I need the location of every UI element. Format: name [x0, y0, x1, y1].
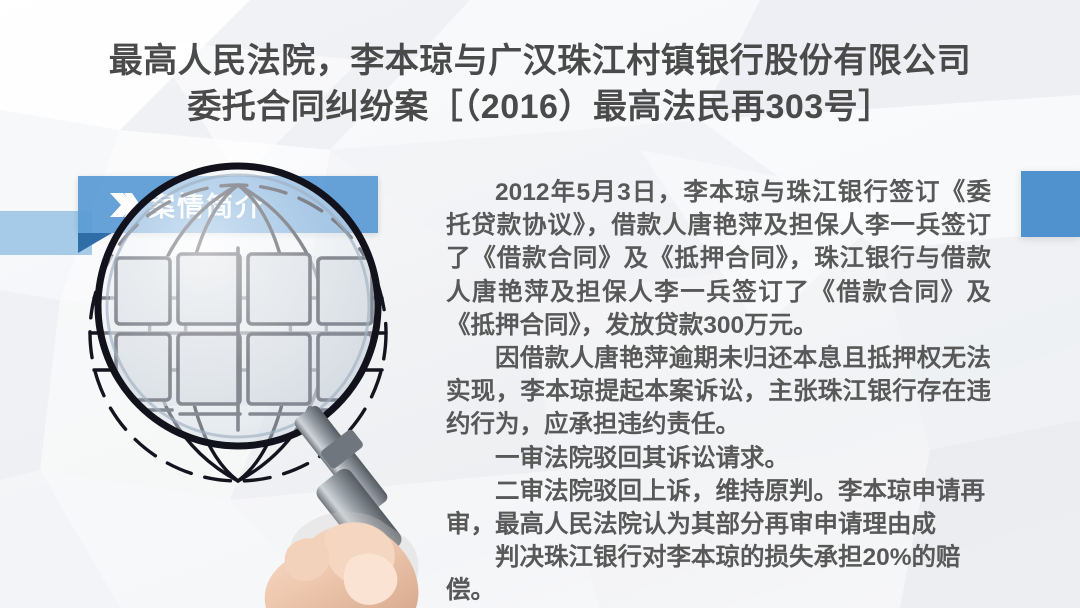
hand-holding-handle [265, 512, 419, 608]
paragraph-1: 2012年5月3日，李本琼与珠江银行签订《委托贷款协议》，借款人唐艳萍及担保人李… [446, 176, 991, 342]
right-accent-square [1021, 171, 1080, 237]
paragraph-4: 二审法院驳回上诉，维持原判。李本琼申请再审，最高人民法院认为其部分再审申请理由成 [446, 475, 991, 541]
title-line-2: 委托合同纠纷案［（2016）最高法民再303号］ [0, 84, 1080, 130]
paragraph-3: 一审法院驳回其诉讼请求。 [446, 442, 991, 475]
presentation-slide: 最高人民法院，李本琼与广汉珠江村镇银行股份有限公司 委托合同纠纷案［（2016）… [0, 0, 1080, 608]
paragraph-5: 判决珠江银行对李本琼的损失承担20%的赔偿。 [446, 541, 991, 607]
magnifier-globe-illustration [60, 138, 490, 608]
case-summary-text: 2012年5月3日，李本琼与珠江银行签订《委托贷款协议》，借款人唐艳萍及担保人李… [446, 176, 991, 608]
paragraph-2: 因借款人唐艳萍逾期未归还本息且抵押权无法实现，李本琼提起本案诉讼，主张珠江银行存… [446, 342, 991, 442]
slide-title: 最高人民法院，李本琼与广汉珠江村镇银行股份有限公司 委托合同纠纷案［（2016）… [0, 38, 1080, 130]
title-line-1: 最高人民法院，李本琼与广汉珠江村镇银行股份有限公司 [0, 38, 1080, 84]
